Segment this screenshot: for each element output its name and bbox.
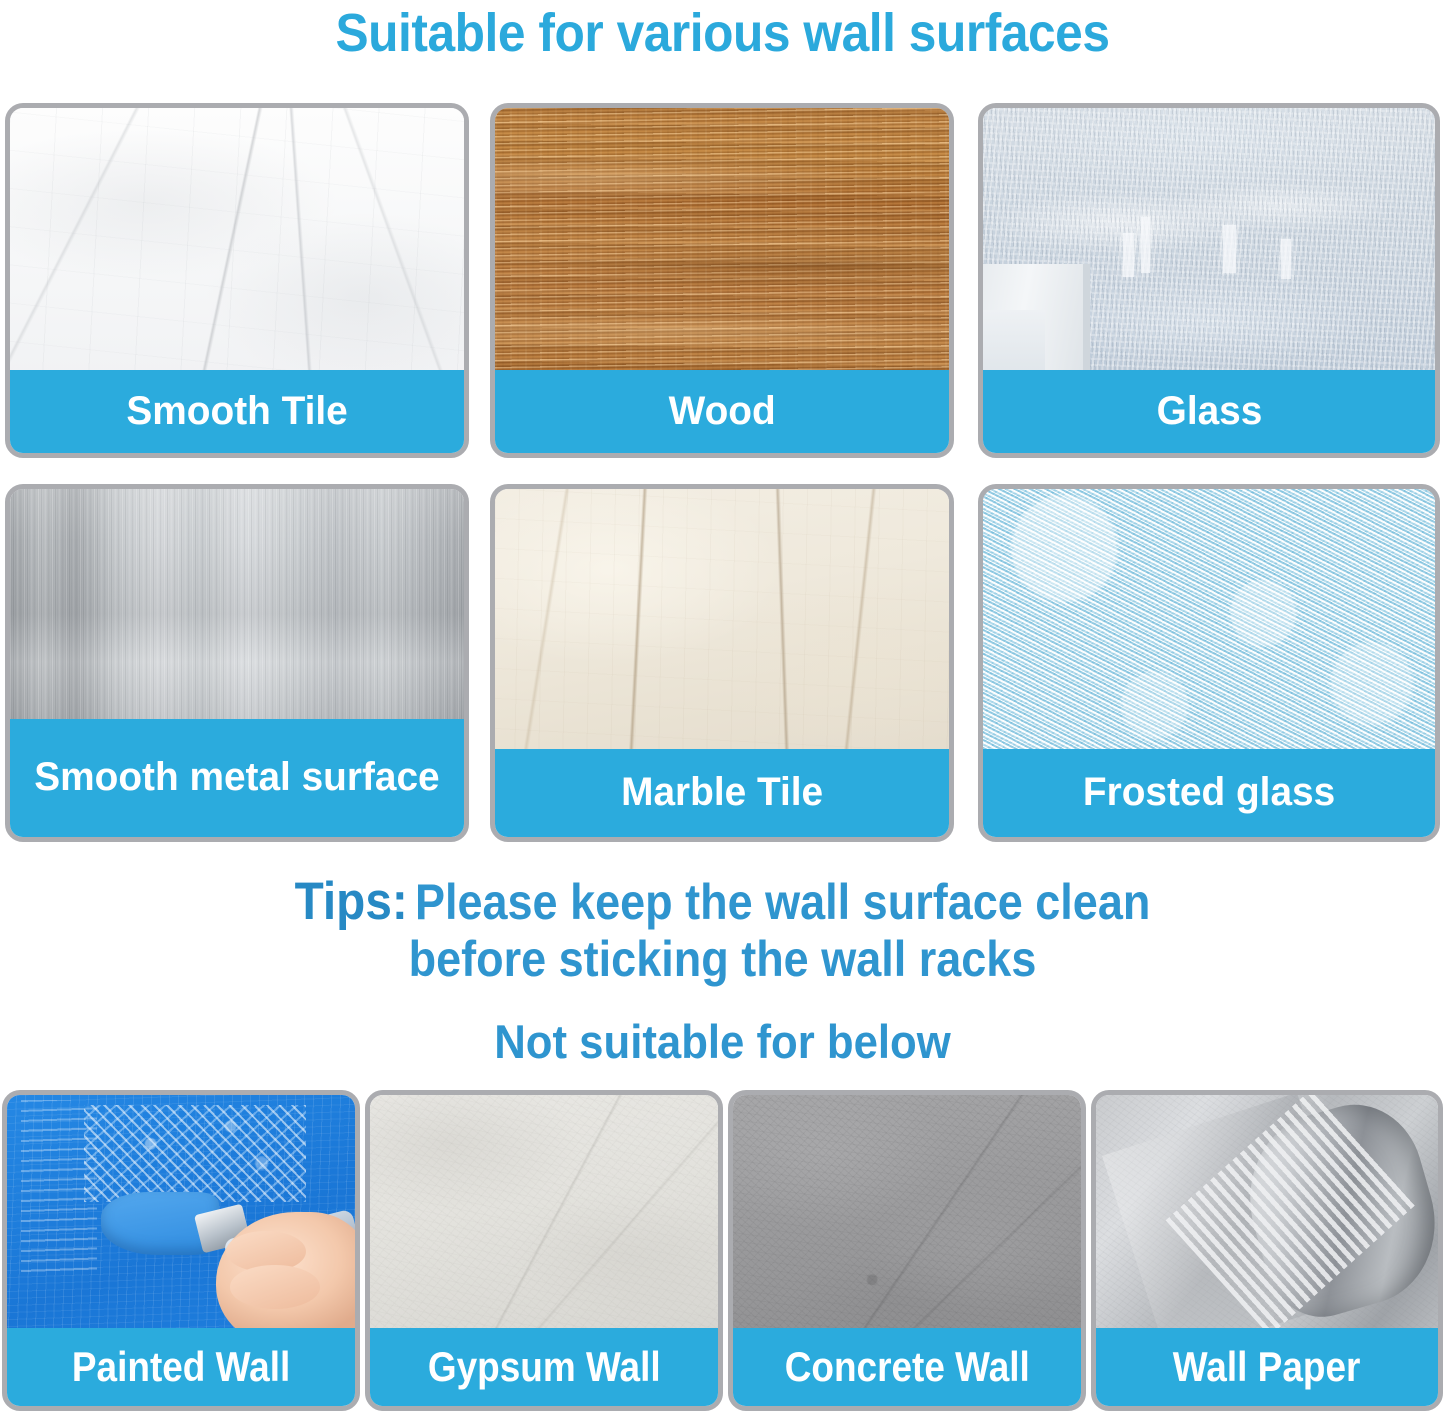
unsuitable-label-text: Gypsum Wall — [428, 1345, 661, 1389]
unsuitable-label-concrete-wall: Concrete Wall — [733, 1328, 1081, 1406]
building-shape — [1123, 233, 1134, 277]
surface-card-smooth-tile[interactable]: Smooth Tile — [5, 103, 469, 458]
not-suitable-heading: Not suitable for below — [51, 1014, 1395, 1069]
unsuitable-card-gypsum-wall[interactable]: Gypsum Wall — [365, 1090, 723, 1411]
building-shape — [1281, 239, 1291, 279]
building-shape — [1223, 225, 1236, 273]
surface-card-marble-tile[interactable]: Marble Tile — [490, 484, 954, 842]
cream-marble-texture — [495, 489, 949, 759]
unsuitable-label-gypsum-wall: Gypsum Wall — [370, 1328, 718, 1406]
surface-label-text: Marble Tile — [621, 772, 823, 814]
unsuitable-card-wall-paper[interactable]: Wall Paper — [1091, 1090, 1443, 1411]
building-shape — [1141, 217, 1150, 273]
blue-paint-brush-hand — [7, 1095, 355, 1338]
surface-card-wood[interactable]: Wood — [490, 103, 954, 458]
unsuitable-thumbnail-concrete-wall — [733, 1095, 1081, 1338]
surface-thumbnail-glass — [983, 108, 1435, 380]
surface-thumbnail-wood — [495, 108, 949, 380]
surface-label-glass: Glass — [983, 370, 1435, 453]
paint-spatter — [84, 1105, 307, 1202]
infographic-page: Suitable for various wall surfaces Smoot… — [0, 0, 1445, 1411]
unsuitable-thumbnail-gypsum-wall — [370, 1095, 718, 1338]
surface-label-wood: Wood — [495, 370, 949, 453]
page-title: Suitable for various wall surfaces — [58, 2, 1387, 64]
surface-label-text: Smooth metal surface — [34, 757, 439, 799]
tips-line-2: before sticking the wall racks — [72, 931, 1373, 987]
surface-card-smooth-metal-surface[interactable]: Smooth metal surface — [5, 484, 469, 842]
tips-block: Tips:Please keep the wall surface clean … — [0, 872, 1445, 987]
unsuitable-label-text: Concrete Wall — [784, 1345, 1029, 1389]
frosted-glass-texture — [983, 489, 1435, 759]
surface-thumbnail-marble-tile — [495, 489, 949, 759]
unsuitable-card-concrete-wall[interactable]: Concrete Wall — [728, 1090, 1086, 1411]
surface-label-smooth-tile: Smooth Tile — [10, 370, 464, 453]
wood-grain-texture — [495, 108, 949, 380]
brushed-metal-texture — [10, 489, 464, 729]
unsuitable-label-text: Painted Wall — [72, 1345, 290, 1389]
surface-label-text: Frosted glass — [1083, 772, 1335, 814]
unsuitable-label-text: Wall Paper — [1173, 1345, 1361, 1389]
gypsum-plaster-texture — [370, 1095, 718, 1338]
tips-line-1: Tips:Please keep the wall surface clean — [72, 872, 1373, 931]
unsuitable-thumbnail-wall-paper — [1096, 1095, 1438, 1338]
surface-label-text: Wood — [668, 391, 775, 433]
surface-label-text: Smooth Tile — [126, 391, 347, 433]
unsuitable-card-painted-wall[interactable]: Painted Wall — [2, 1090, 360, 1411]
tips-label: Tips: — [295, 872, 408, 931]
surface-thumbnail-frosted-glass — [983, 489, 1435, 759]
unsuitable-thumbnail-painted-wall — [7, 1095, 355, 1338]
gray-concrete-texture — [733, 1095, 1081, 1338]
window-glass-cityscape — [983, 108, 1435, 380]
white-marble-tile-texture — [10, 108, 464, 380]
surface-label-frosted-glass: Frosted glass — [983, 749, 1435, 837]
tips-text-1: Please keep the wall surface clean — [415, 874, 1150, 930]
surface-label-marble-tile: Marble Tile — [495, 749, 949, 837]
surface-card-frosted-glass[interactable]: Frosted glass — [978, 484, 1440, 842]
finger — [230, 1265, 320, 1309]
unsuitable-label-painted-wall: Painted Wall — [7, 1328, 355, 1406]
surface-thumbnail-smooth-metal-surface — [10, 489, 464, 729]
surface-label-smooth-metal-surface: Smooth metal surface — [10, 719, 464, 837]
surface-card-glass[interactable]: Glass — [978, 103, 1440, 458]
surface-thumbnail-smooth-tile — [10, 108, 464, 380]
rolled-wallpaper-sheet — [1096, 1095, 1438, 1338]
unsuitable-label-wall-paper: Wall Paper — [1096, 1328, 1438, 1406]
surface-label-text: Glass — [1156, 391, 1262, 433]
